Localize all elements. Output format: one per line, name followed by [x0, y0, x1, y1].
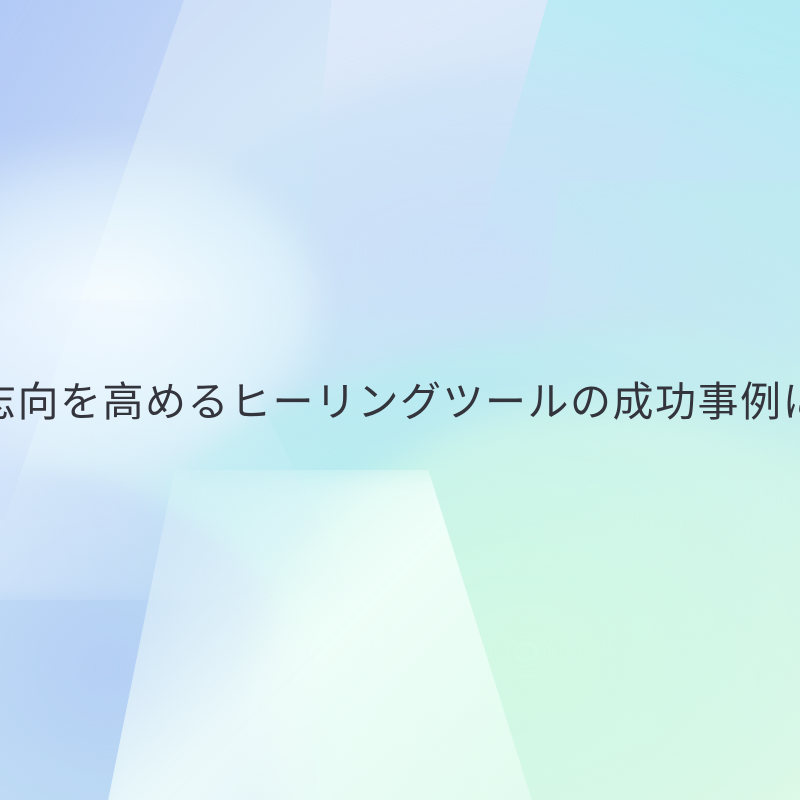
- headline-container: 健康志向を高めるヒーリングツールの成功事例に学ぶ: [0, 0, 800, 800]
- decorative-banner: 健康志向を高めるヒーリングツールの成功事例に学ぶ: [0, 0, 800, 800]
- page-title: 健康志向を高めるヒーリングツールの成功事例に学ぶ: [0, 378, 800, 426]
